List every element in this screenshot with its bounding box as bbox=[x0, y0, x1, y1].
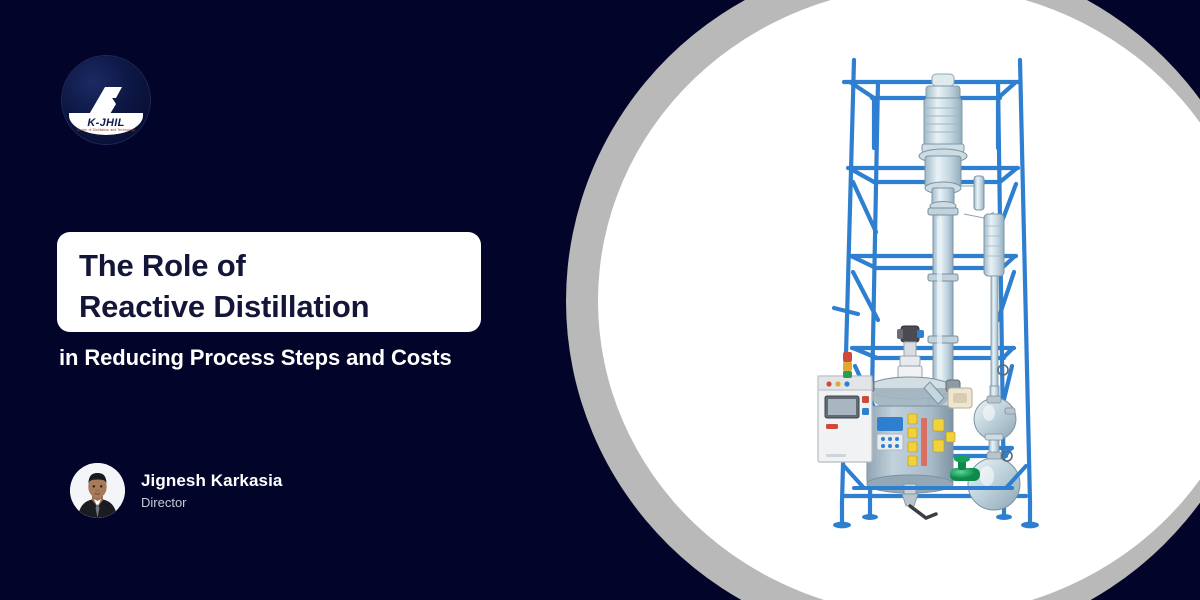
cabinet-indicators bbox=[826, 381, 849, 386]
author-text: Jignesh Karkasia Director bbox=[141, 471, 282, 510]
headline-subtitle: in Reducing Process Steps and Costs bbox=[59, 345, 452, 371]
logo-circle: K-JHIL Master of Distillation and Techno… bbox=[62, 56, 150, 144]
headline-line-1: The Role of bbox=[79, 246, 459, 287]
author-portrait-icon bbox=[70, 463, 125, 518]
headline-line-2: Reactive Distillation bbox=[79, 287, 459, 328]
author-role: Director bbox=[141, 495, 282, 510]
author-block: Jignesh Karkasia Director bbox=[70, 463, 282, 518]
brand-logo[interactable]: K-JHIL Master of Distillation and Techno… bbox=[62, 56, 150, 144]
logo-brand-text: K-JHIL bbox=[87, 118, 124, 129]
distillation-plant-illustration bbox=[798, 36, 1088, 566]
packed-column bbox=[928, 208, 958, 406]
side-takeoff bbox=[974, 176, 984, 210]
author-name: Jignesh Karkasia bbox=[141, 471, 282, 491]
headline-card: The Role of Reactive Distillation bbox=[57, 232, 481, 332]
top-condenser bbox=[922, 74, 964, 152]
avatar bbox=[70, 463, 125, 518]
logo-tagline: Master of Distillation and Technology bbox=[67, 128, 145, 132]
equipment-photo bbox=[798, 36, 1088, 566]
blog-banner: K-JHIL Master of Distillation and Techno… bbox=[0, 0, 1200, 600]
